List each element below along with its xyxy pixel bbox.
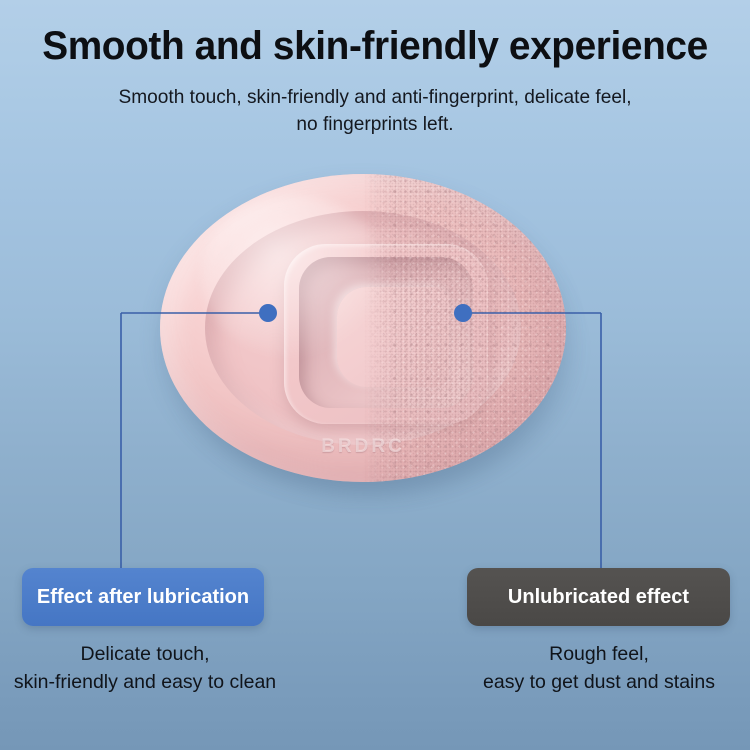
basin-floor xyxy=(337,287,448,387)
product-image: BRDRC xyxy=(128,160,628,510)
caption-left-line-1: Delicate touch, xyxy=(0,640,290,668)
caption-left-line-2: skin-friendly and easy to clean xyxy=(0,668,290,696)
basin-wall xyxy=(299,257,473,408)
badge-unlubricated-effect[interactable]: Unlubricated effect xyxy=(467,568,730,626)
product-feature-poster: Smooth and skin-friendly experience Smoo… xyxy=(0,0,750,750)
caption-right-line-2: easy to get dust and stains xyxy=(450,668,748,696)
badge-effect-after-lubrication[interactable]: Effect after lubrication xyxy=(22,568,264,626)
bowl-outer-oval: BRDRC xyxy=(160,174,566,482)
bowl-inner-basin xyxy=(284,244,488,424)
page-subtitle-line-2: no fingerprints left. xyxy=(8,111,743,138)
caption-right: Rough feel, easy to get dust and stains xyxy=(450,640,748,696)
page-title: Smooth and skin-friendly experience xyxy=(11,22,739,70)
page-subtitle: Smooth touch, skin-friendly and anti-fin… xyxy=(8,84,743,138)
page-subtitle-line-1: Smooth touch, skin-friendly and anti-fin… xyxy=(8,84,743,111)
caption-left: Delicate touch, skin-friendly and easy t… xyxy=(0,640,290,696)
caption-right-line-1: Rough feel, xyxy=(450,640,748,668)
